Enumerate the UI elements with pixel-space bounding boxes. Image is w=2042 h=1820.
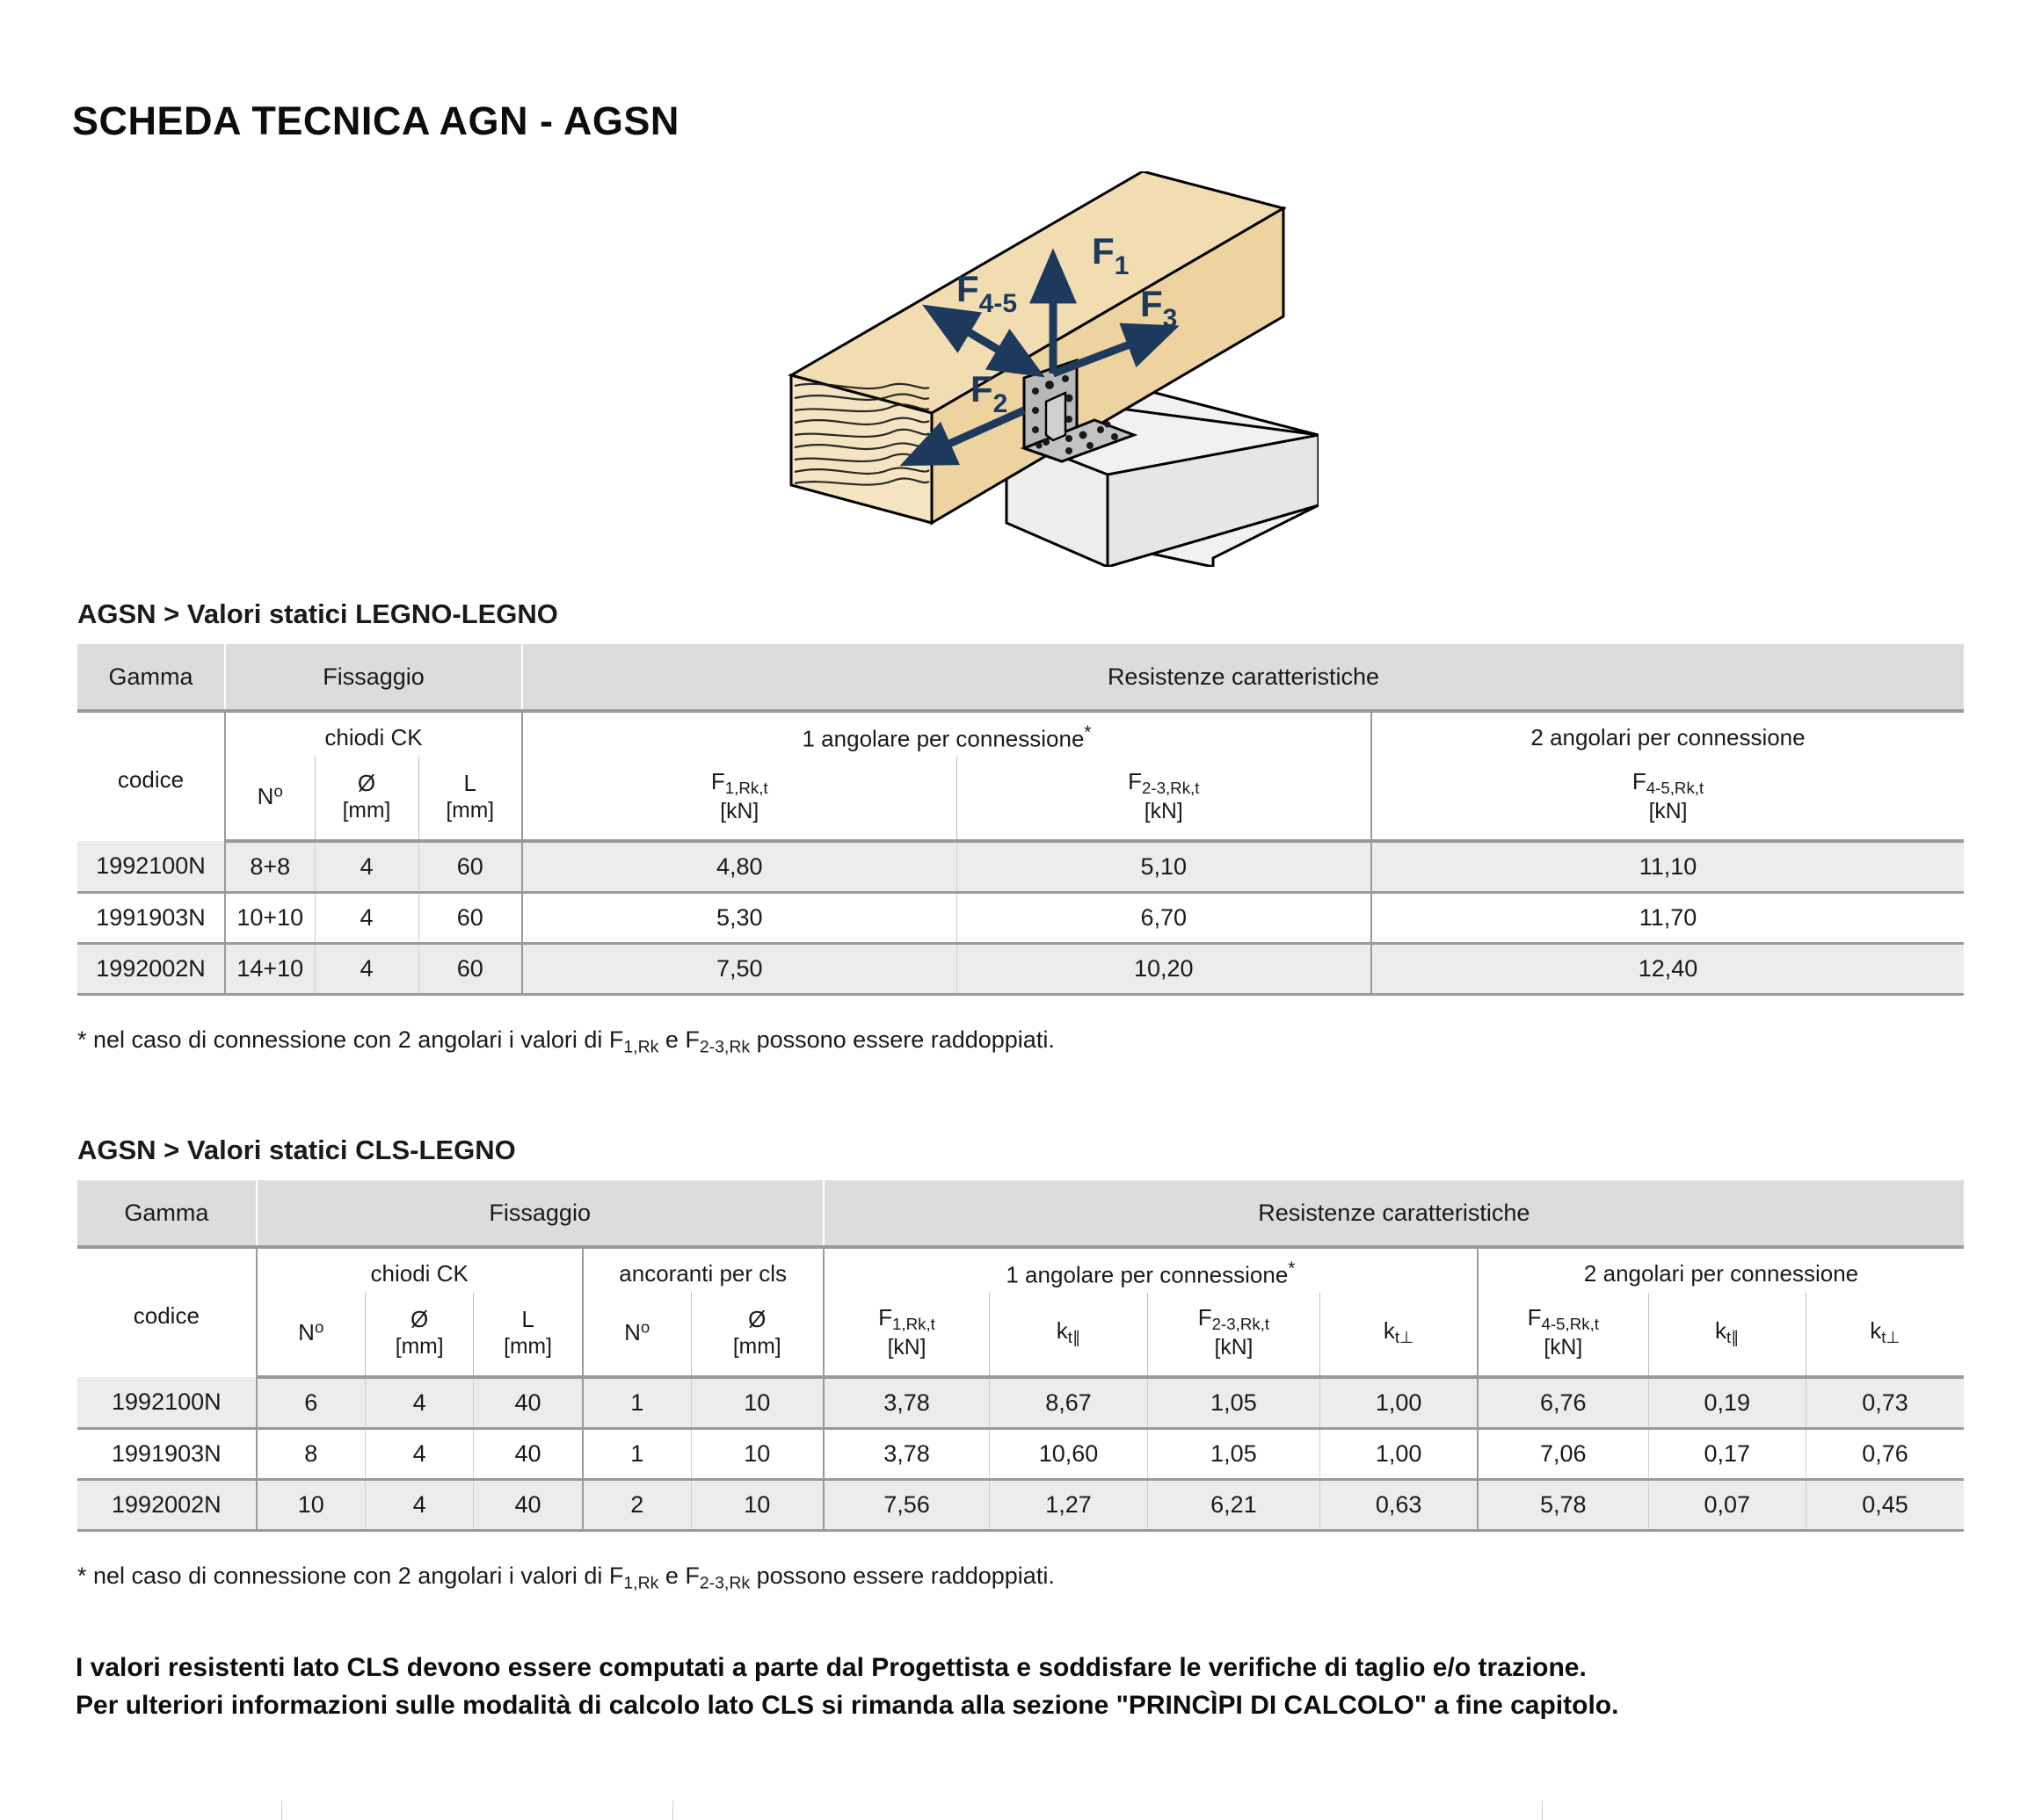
col-ancoranti-diametro: Ø[mm] [691,1293,823,1377]
table2-group-band: Gamma Fissaggio Resistenze caratteristic… [77,1180,1964,1247]
cell-kt-perpendicular-1: 0,63 [1320,1479,1478,1530]
col-f23-rkt: F2-3,Rk,t[kN] [956,757,1371,841]
cell-ancoranti-numero: 1 [583,1377,692,1428]
cell-f45: 5,78 [1478,1479,1648,1530]
group-resistenze: Resistenze caratteristiche [824,1180,1964,1247]
section-caption-cls-legno: AGSN > Valori statici CLS-LEGNO [77,1135,516,1166]
page-title: SCHEDA TECNICA AGN - AGSN [72,98,679,144]
cell-chiodi-lunghezza: 40 [474,1377,583,1428]
asterisk-marker: * [1084,722,1091,743]
cell-kt-parallel-1: 10,60 [990,1428,1147,1479]
table1-column-header-row: No Ø[mm] L[mm] F1,Rk,t[kN] F2-3,Rk,t[kN] [77,757,1964,841]
cell-kt-perpendicular-2: 0,73 [1806,1377,1964,1428]
cell-codice: 1992100N [77,841,225,892]
table-cls-legno: Gamma Fissaggio Resistenze caratteristic… [77,1180,1964,1532]
cell-f45: 6,76 [1478,1377,1648,1428]
footnote-part-1: * nel caso di connessione con 2 angolari… [77,1026,623,1053]
subgroup-codice: codice [77,711,225,841]
cell-f45: 7,06 [1478,1428,1648,1479]
cell-kt-parallel-2: 0,17 [1648,1428,1806,1479]
col-kt-perpendicular-1: kt⊥ [1320,1293,1478,1377]
cell-f23: 1,05 [1147,1428,1319,1479]
subgroup-uno-angolare-text: 1 angolare per connessione [803,725,1085,751]
subgroup-uno-angolare: 1 angolare per connessione* [522,711,1371,757]
group-gamma: Gamma [77,1180,257,1247]
subgroup-due-angolari: 2 angolari per connessione [1478,1247,1964,1293]
group-fissaggio: Fissaggio [225,644,522,711]
subgroup-ancoranti-cls: ancoranti per cls [583,1247,824,1293]
cell-ancoranti-diametro: 10 [691,1479,823,1530]
cell-f45: 11,70 [1371,892,1964,943]
cell-chiodi-diametro: 4 [365,1377,474,1428]
group-gamma: Gamma [77,644,225,711]
col-f45-rkt: F4-5,Rk,t[kN] [1478,1293,1648,1377]
footnote-sub-1: 1,Rk [623,1573,658,1592]
cell-kt-perpendicular-1: 1,00 [1320,1428,1478,1479]
cell-f23: 6,70 [956,892,1371,943]
bottom-note: I valori resistenti lato CLS devono esse… [76,1650,1974,1724]
cell-ancoranti-numero: 2 [583,1479,692,1530]
cell-f45: 11,10 [1371,841,1964,892]
cell-chiodi-numero: 10 [257,1479,366,1530]
cell-kt-parallel-2: 0,19 [1648,1377,1806,1428]
cell-f1: 7,56 [824,1479,990,1530]
col-ancoranti-numero: No [583,1293,692,1377]
col-chiodi-lunghezza: L[mm] [474,1293,583,1377]
col-kt-parallel-2: kt∥ [1648,1293,1806,1377]
footnote-part-3: possono essere raddoppiati. [750,1026,1055,1053]
col-f45-rkt: F4-5,Rk,t[kN] [1371,757,1964,841]
cell-kt-perpendicular-2: 0,76 [1806,1428,1964,1479]
footnote-part-2: e F [658,1026,700,1053]
footnote-sub-2: 2-3,Rk [700,1573,750,1592]
cell-chiodi-numero: 10+10 [225,892,315,943]
crop-mark-left [281,1801,282,1820]
cell-chiodi-numero: 14+10 [225,943,315,994]
cell-chiodi-diametro: 4 [315,943,418,994]
cell-codice: 1991903N [77,1428,257,1479]
col-f23-rkt: F2-3,Rk,t[kN] [1147,1293,1319,1377]
cell-chiodi-lunghezza: 60 [418,943,522,994]
crop-mark-center [672,1801,673,1820]
cell-chiodi-lunghezza: 40 [474,1428,583,1479]
footnote-part-2: e F [658,1563,700,1589]
cell-f23: 1,05 [1147,1377,1319,1428]
col-kt-perpendicular-2: kt⊥ [1806,1293,1964,1377]
cell-f1: 5,30 [522,892,956,943]
table-row: 1991903N 10+10 4 60 5,30 6,70 11,70 [77,892,1964,943]
section-caption-legno-legno: AGSN > Valori statici LEGNO-LEGNO [77,598,558,630]
cell-f45: 12,40 [1371,943,1964,994]
footnote-part-3: possono essere raddoppiati. [750,1563,1055,1589]
datasheet-page: SCHEDA TECNICA AGN - AGSN [0,0,2042,1820]
footnote-sub-1: 1,Rk [623,1037,658,1056]
cell-codice: 1992002N [77,943,225,994]
cell-chiodi-lunghezza: 40 [474,1479,583,1530]
cell-f1: 3,78 [824,1428,990,1479]
cell-f1: 4,80 [522,841,956,892]
cell-ancoranti-numero: 1 [583,1428,692,1479]
table-legno-legno-wrapper: Gamma Fissaggio Resistenze caratteristic… [77,644,1964,996]
group-resistenze: Resistenze caratteristiche [522,644,1964,711]
subgroup-uno-angolare-text: 1 angolare per connessione [1006,1261,1288,1287]
cell-f23: 6,21 [1147,1479,1319,1530]
table2-column-header-row: No Ø[mm] L[mm] No Ø[mm] F1,Rk, [77,1293,1964,1377]
table1-subgroup-row: codice chiodi CK 1 angolare per connessi… [77,711,1964,757]
cell-chiodi-lunghezza: 60 [418,892,522,943]
cell-chiodi-diametro: 4 [365,1428,474,1479]
group-fissaggio: Fissaggio [257,1180,824,1247]
cell-codice: 1992100N [77,1377,257,1428]
bottom-note-line-1: I valori resistenti lato CLS devono esse… [76,1650,1974,1687]
footnote-sub-2: 2-3,Rk [700,1037,750,1056]
cell-chiodi-numero: 8+8 [225,841,315,892]
col-f1-rkt: F1,Rk,t[kN] [522,757,956,841]
table1-group-band: Gamma Fissaggio Resistenze caratteristic… [77,644,1964,711]
cell-codice: 1991903N [77,892,225,943]
cell-f23: 5,10 [956,841,1371,892]
crop-mark-right [1542,1801,1543,1820]
table2-subgroup-row: codice chiodi CK ancoranti per cls 1 ang… [77,1247,1964,1293]
cell-chiodi-numero: 6 [257,1377,366,1428]
cell-f23: 10,20 [956,943,1371,994]
footnote-part-1: * nel caso di connessione con 2 angolari… [77,1563,623,1589]
cell-chiodi-numero: 8 [257,1428,366,1479]
subgroup-due-angolari: 2 angolari per connessione [1371,711,1964,757]
col-kt-parallel-1: kt∥ [990,1293,1147,1377]
table-legno-legno: Gamma Fissaggio Resistenze caratteristic… [77,644,1964,996]
col-f1-rkt: F1,Rk,t[kN] [824,1293,990,1377]
cell-ancoranti-diametro: 10 [691,1377,823,1428]
col-chiodi-lunghezza: L[mm] [418,757,522,841]
subgroup-chiodi-ck: chiodi CK [257,1247,583,1293]
cell-f1: 7,50 [522,943,956,994]
cell-kt-parallel-2: 0,07 [1648,1479,1806,1530]
cell-codice: 1992002N [77,1479,257,1530]
cell-kt-parallel-1: 8,67 [990,1377,1147,1428]
beam-bracket-force-diagram: F1 F4-5 F3 F2 [756,171,1319,567]
table-cls-legno-wrapper: Gamma Fissaggio Resistenze caratteristic… [77,1180,1964,1532]
cell-f1: 3,78 [824,1377,990,1428]
cell-kt-parallel-1: 1,27 [990,1479,1147,1530]
table-row: 1991903N 8 4 40 1 10 3,78 10,60 1,05 1,0… [77,1428,1964,1479]
cell-chiodi-lunghezza: 60 [418,841,522,892]
cell-ancoranti-diametro: 10 [691,1428,823,1479]
col-chiodi-numero: No [225,757,315,841]
footnote-cls-legno: * nel caso di connessione con 2 angolari… [77,1563,1055,1593]
footnote-legno-legno: * nel caso di connessione con 2 angolari… [77,1026,1055,1057]
subgroup-chiodi-ck: chiodi CK [225,711,522,757]
bottom-note-line-2: Per ulteriori informazioni sulle modalit… [76,1687,1974,1725]
cell-kt-perpendicular-1: 1,00 [1320,1377,1478,1428]
cell-chiodi-diametro: 4 [365,1479,474,1530]
asterisk-marker: * [1288,1258,1295,1279]
cell-kt-perpendicular-2: 0,45 [1806,1479,1964,1530]
subgroup-uno-angolare: 1 angolare per connessione* [824,1247,1478,1293]
table-row: 1992002N 14+10 4 60 7,50 10,20 12,40 [77,943,1964,994]
cell-chiodi-diametro: 4 [315,892,418,943]
subgroup-codice: codice [77,1247,257,1377]
col-chiodi-diametro: Ø[mm] [365,1293,474,1377]
table-row: 1992100N 8+8 4 60 4,80 5,10 11,10 [77,841,1964,892]
table-row: 1992100N 6 4 40 1 10 3,78 8,67 1,05 1,00… [77,1377,1964,1428]
col-chiodi-diametro: Ø[mm] [315,757,418,841]
cell-chiodi-diametro: 4 [315,841,418,892]
table-row: 1992002N 10 4 40 2 10 7,56 1,27 6,21 0,6… [77,1479,1964,1530]
col-chiodi-numero: No [257,1293,366,1377]
